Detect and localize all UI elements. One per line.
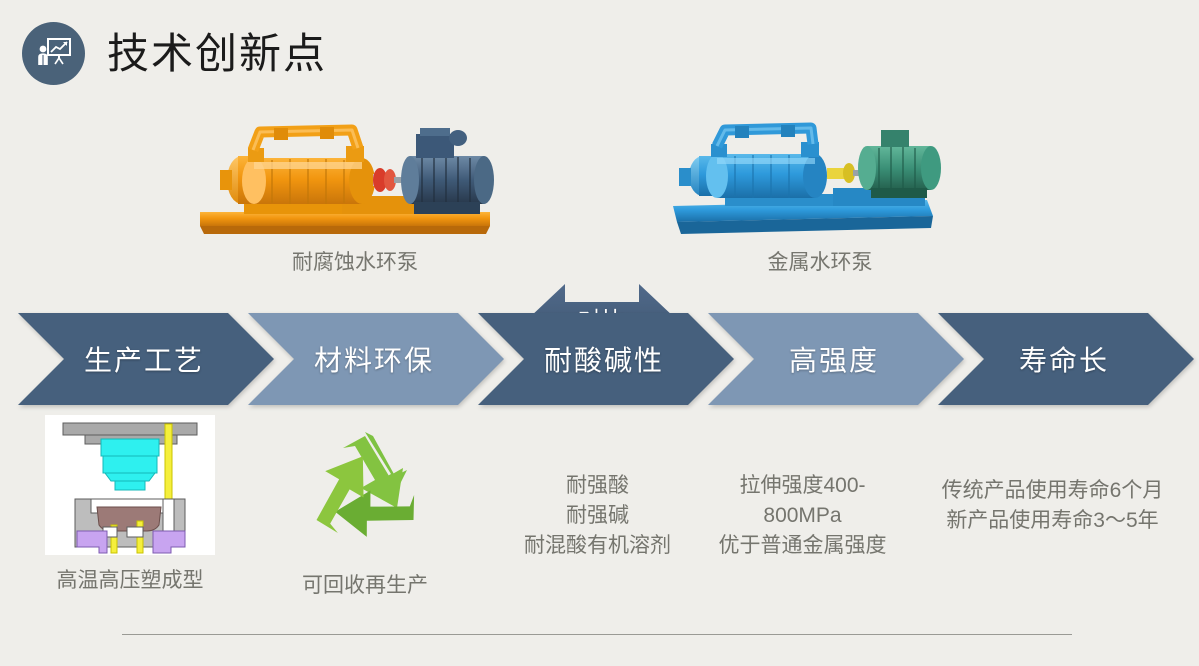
feature-molding: 高温高压塑成型: [20, 415, 240, 605]
right-pump-block: 金属水环泵: [655, 108, 985, 288]
feature-strength-line-2: 800MPa: [700, 501, 905, 531]
chevron-step-2[interactable]: 材料环保: [248, 313, 504, 405]
feature-recycle-caption: 可回收再生产: [265, 569, 465, 599]
chevron-step-1[interactable]: 生产工艺: [18, 313, 274, 405]
feature-strength: 拉伸强度400- 800MPa 优于普通金属强度: [700, 415, 905, 661]
chevron-step-4[interactable]: 高强度: [708, 313, 964, 405]
recycle-symbol-icon: [295, 426, 435, 556]
chevron-step-1-label: 生产工艺: [44, 313, 244, 405]
right-pump-caption: 金属水环泵: [655, 246, 985, 276]
left-pump-caption: 耐腐蚀水环泵: [190, 246, 520, 276]
footer-divider: [122, 634, 1072, 635]
chevron-process-band: 生产工艺 材料环保 耐酸碱性 高强度 寿命长: [0, 313, 1199, 407]
chevron-step-4-label: 高强度: [734, 313, 934, 405]
page-title: 技术创新点: [107, 33, 327, 75]
feature-lifetime-line-2: 新产品使用寿命3～5年: [910, 506, 1195, 536]
chevron-step-5-label: 寿命长: [964, 313, 1164, 405]
feature-lifetime-line-1: 传统产品使用寿命6个月: [910, 476, 1195, 506]
left-pump-block: 耐腐蚀水环泵: [190, 108, 520, 288]
feature-acid-alkali-line-2: 耐强碱: [480, 501, 715, 531]
feature-molding-caption: 高温高压塑成型: [20, 564, 240, 594]
feature-columns: 高温高压塑成型: [0, 415, 1199, 605]
feature-strength-line-1: 拉伸强度400-: [700, 471, 905, 501]
feature-strength-line-3: 优于普通金属强度: [700, 531, 905, 561]
feature-recycle: 可回收再生产: [265, 415, 465, 605]
page-header: 技术创新点: [22, 22, 327, 85]
chevron-step-5[interactable]: 寿命长: [938, 313, 1194, 405]
feature-acid-alkali-text: 耐强酸 耐强碱 耐混酸有机溶剂: [480, 471, 715, 560]
chevron-step-3-label: 耐酸碱性: [504, 313, 704, 405]
pump-comparison-section: 耐腐蚀水环泵 对比: [0, 108, 1199, 288]
chevron-step-3[interactable]: 耐酸碱性: [478, 313, 734, 405]
feature-acid-alkali-line-1: 耐强酸: [480, 471, 715, 501]
chevron-step-2-label: 材料环保: [274, 313, 474, 405]
feature-acid-alkali-line-3: 耐混酸有机溶剂: [480, 531, 715, 561]
metal-water-ring-pump-image: [655, 108, 985, 240]
feature-strength-text: 拉伸强度400- 800MPa 优于普通金属强度: [700, 471, 905, 560]
feature-lifetime: 传统产品使用寿命6个月 新产品使用寿命3～5年: [910, 415, 1195, 666]
injection-mold-diagram: [45, 415, 215, 555]
feature-lifetime-text: 传统产品使用寿命6个月 新产品使用寿命3～5年: [910, 476, 1195, 536]
slide-root: 技术创新点: [0, 0, 1199, 659]
feature-acid-alkali: 耐强酸 耐强碱 耐混酸有机溶剂: [480, 415, 715, 661]
corrosion-resistant-water-ring-pump-image: [190, 108, 520, 240]
presentation-chart-icon: [22, 22, 85, 85]
